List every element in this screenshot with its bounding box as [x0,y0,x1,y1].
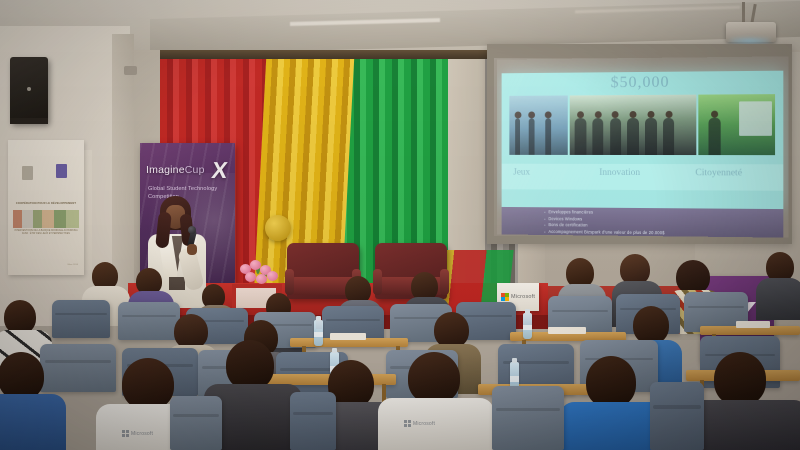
slide-bullet-list: Enveloppes financières Devices Windows B… [544,209,780,237]
slide-category-row: Jeux Innovation Citoyenneté [502,164,784,191]
presenter-hand [187,244,197,255]
microphone-head-icon [188,226,196,234]
microsoft-wordmark: Microsoft [131,431,153,437]
slide-prize-amount: $50,000 [502,73,784,93]
auditorium-seat[interactable] [650,382,704,450]
microsoft-wordmark: Microsoft [511,294,535,300]
flower-arrangement [236,258,280,288]
poster-logo-left-icon [22,166,33,180]
desk-paper [736,321,770,328]
curtain-tie-knot [265,215,291,241]
auditorium-seat[interactable] [40,344,116,392]
conference-photo: COOPÉRATION POUR LE DÉVELOPPEMENT INTERV… [0,0,800,450]
wall-poster-cooperation: COOPÉRATION POUR LE DÉVELOPPEMENT INTERV… [8,140,84,275]
presentation-slide: $50,000 [502,71,784,209]
water-bottle [314,320,323,346]
water-bottle [523,313,532,339]
slide-photo-strip [509,94,775,155]
microsoft-logo-icon: Microsoft [122,430,153,437]
desk-paper [330,333,366,340]
poster-subtitle: INTERVENTIONS DE LA BANQUE MONDIALE AU B… [13,230,79,236]
slide-category-citoyennete: Citoyenneté [695,168,742,178]
poster-title: COOPÉRATION POUR LE DÉVELOPPEMENT [12,202,80,205]
banner-brand-cup: Cup [185,164,205,176]
ceiling-fixture [124,66,137,75]
microsoft-wordmark: Microsoft [413,421,435,427]
imagine-cup-x-logo-icon: X [210,157,235,183]
speaker-led-icon [27,87,31,91]
speaker-bracket [10,118,48,124]
poster-footer: Mars 2014 [46,264,78,266]
desk-paper [548,327,586,334]
auditorium-seat[interactable] [52,300,110,338]
poster-photo-band [13,210,79,228]
auditorium-seat[interactable] [170,396,222,450]
microsoft-logo-icon: Microsoft [501,293,535,301]
projection-screen: $50,000 [497,56,789,237]
auditorium-seat[interactable] [492,386,564,450]
slide-photo-1 [509,95,568,154]
poster-logo-right-icon [56,164,67,178]
slide-bullet-band: Enveloppes financières Devices Windows B… [502,207,784,238]
projector-mount-arm [742,2,745,24]
auditorium-seat[interactable] [290,392,336,450]
slide-category-jeux: Jeux [513,168,530,178]
microsoft-logo-icon: Microsoft [404,420,435,427]
banner-brand-imagine: Imagine [146,164,185,176]
slide-photo-2 [570,95,696,155]
slide-category-innovation: Innovation [599,168,640,178]
slide-photo-3 [698,94,775,155]
auditorium-seat[interactable] [118,302,180,340]
